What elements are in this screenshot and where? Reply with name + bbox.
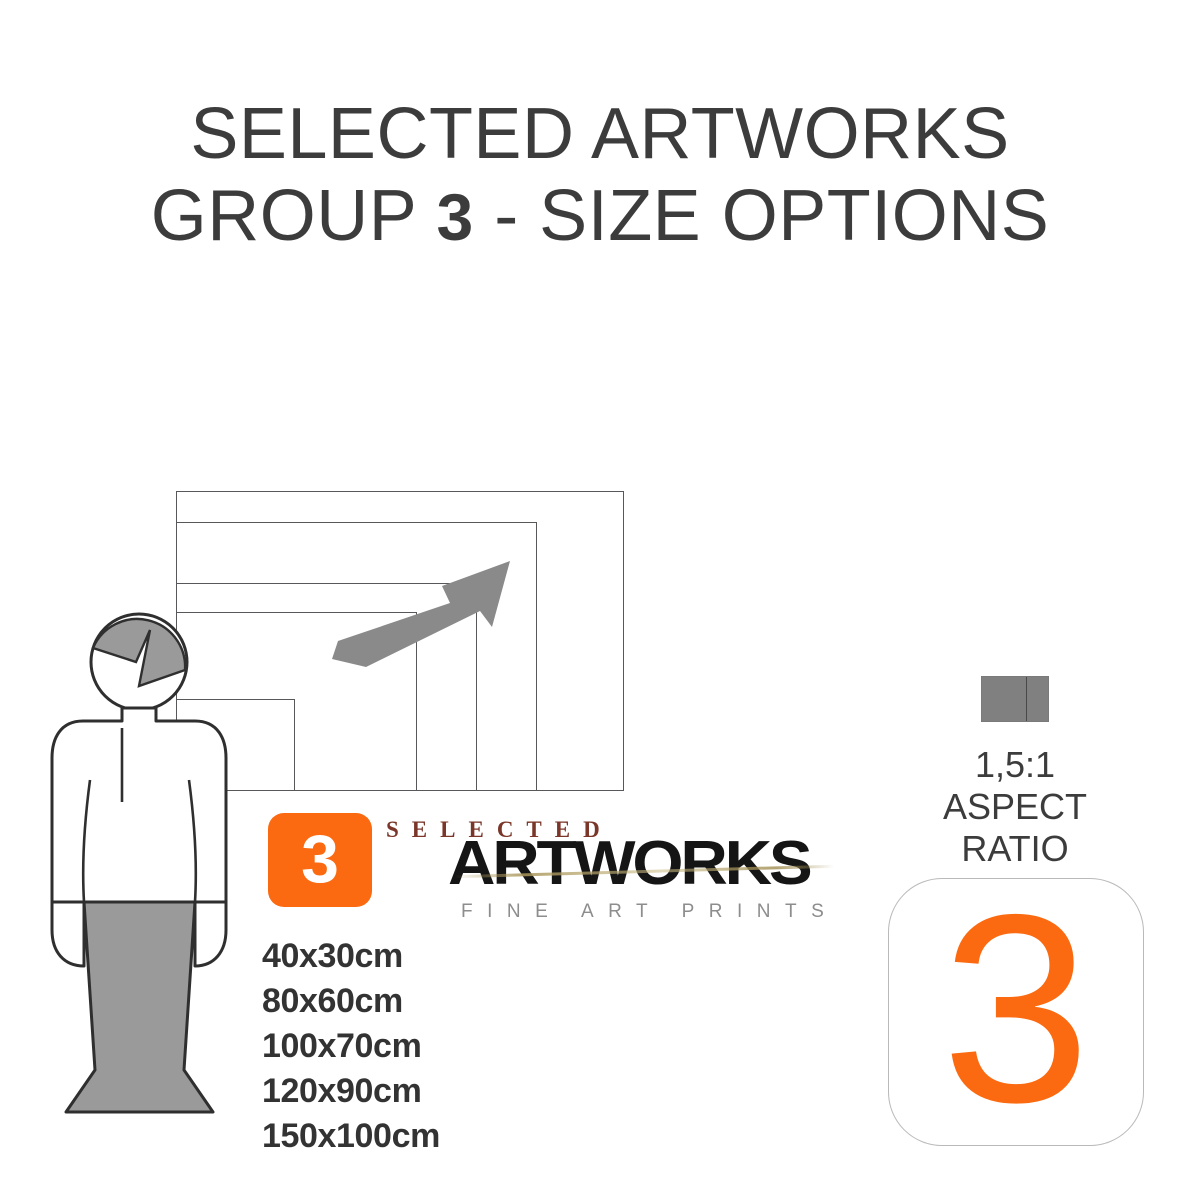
person-scale-figure (38, 600, 268, 1160)
logo-group-badge: 3 (268, 813, 372, 907)
aspect-ratio-block: 1,5:1 ASPECT RATIO (880, 676, 1150, 869)
brand-logo: 3 SELECTED ARTWORKS FINE ART PRINTS (268, 813, 848, 923)
title-line-2: GROUP 3 - SIZE OPTIONS (0, 178, 1200, 254)
size-option-item: 100x70cm (262, 1024, 440, 1069)
group-number-tile-value: 3 (941, 901, 1090, 1115)
person-hand-left (52, 902, 84, 966)
logo-group-badge-number: 3 (301, 825, 339, 893)
title-group-number: 3 (436, 180, 473, 254)
title-group-prefix: GROUP (151, 176, 437, 256)
logo-word-artworks: ARTWORKS (448, 833, 810, 895)
person-lower-body (66, 902, 213, 1112)
size-option-item: 120x90cm (262, 1069, 440, 1114)
person-hand-right (195, 902, 226, 966)
title-group-suffix: - SIZE OPTIONS (474, 176, 1050, 256)
page-title: SELECTED ARTWORKS GROUP 3 - SIZE OPTIONS (0, 96, 1200, 255)
size-option-item: 80x60cm (262, 979, 440, 1024)
aspect-ratio-swatch-wrap (880, 676, 1150, 722)
logo-tagline-fine-art-prints: FINE ART PRINTS (461, 901, 838, 923)
size-growth-arrow-icon (330, 555, 530, 675)
aspect-ratio-value: 1,5:1 (880, 744, 1150, 786)
aspect-ratio-label-2: RATIO (880, 828, 1150, 870)
aspect-ratio-divider-line (1026, 677, 1028, 721)
aspect-ratio-label-1: ASPECT (880, 786, 1150, 828)
size-option-item: 150x100cm (262, 1114, 440, 1159)
title-line-1: SELECTED ARTWORKS (0, 96, 1200, 172)
group-number-tile: 3 (888, 878, 1144, 1146)
size-option-item: 40x30cm (262, 934, 440, 979)
aspect-ratio-text: 1,5:1 ASPECT RATIO (880, 744, 1150, 869)
size-options-list: 40x30cm 80x60cm 100x70cm 120x90cm 150x10… (262, 934, 440, 1158)
aspect-ratio-swatch-icon (981, 676, 1049, 722)
person-torso (52, 708, 226, 902)
